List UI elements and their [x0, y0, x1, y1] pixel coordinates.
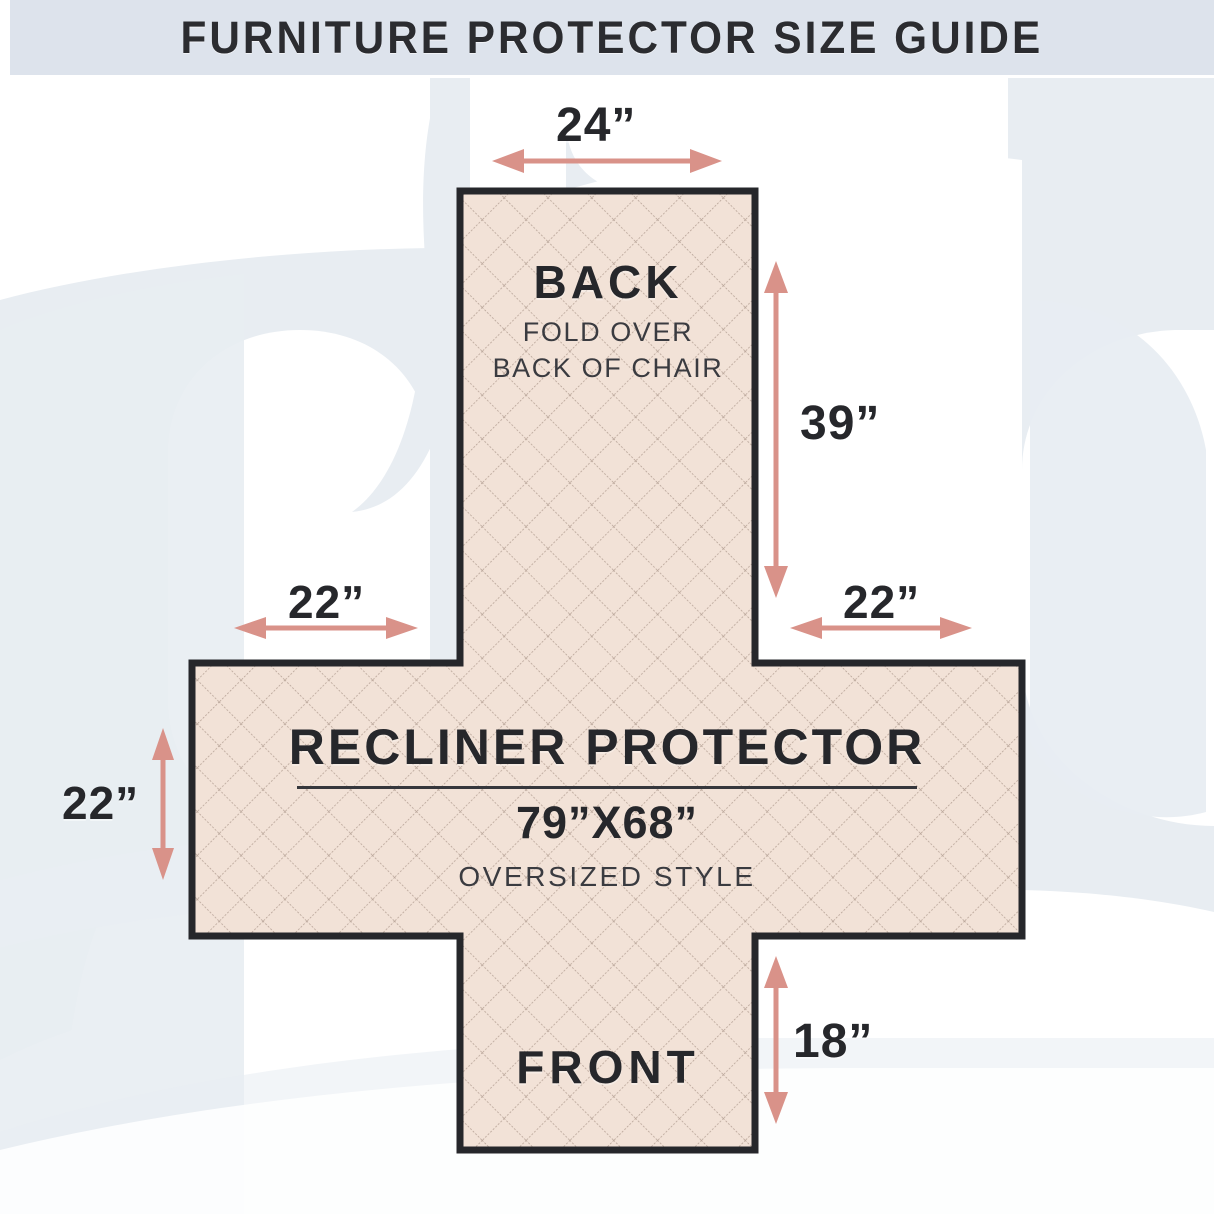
dimension-label-top-width: 24”: [556, 98, 636, 153]
back-panel-label: BACK: [460, 255, 756, 309]
back-panel-instruction: FOLD OVER BACK OF CHAIR: [450, 315, 766, 387]
product-dimensions: 79”X68”: [192, 797, 1022, 849]
dimension-label-left-arm: 22”: [288, 575, 365, 629]
size-guide-canvas: FURNITURE PROTECTOR SIZE GUIDE BACK FOLD…: [0, 0, 1214, 1214]
arrow-arm-height: [152, 728, 174, 880]
arrow-back-height: [764, 261, 788, 598]
divider-rule: [297, 786, 917, 789]
dimension-arrows: [0, 0, 1214, 1214]
dimension-label-back-height: 39”: [800, 396, 880, 451]
back-panel-instruction-line-2: BACK OF CHAIR: [450, 351, 766, 387]
dimension-label-right-arm: 22”: [843, 575, 920, 629]
product-name: RECLINER PROTECTOR: [192, 718, 1022, 776]
center-panel-info: RECLINER PROTECTOR 79”X68” OVERSIZED STY…: [192, 718, 1022, 893]
dimension-label-front-height: 18”: [793, 1014, 873, 1069]
front-panel-label: FRONT: [460, 1040, 756, 1094]
dimension-label-arm-height: 22”: [62, 776, 139, 830]
product-style: OVERSIZED STYLE: [192, 861, 1022, 893]
back-panel-instruction-line-1: FOLD OVER: [450, 315, 766, 351]
arrow-front-height: [764, 956, 788, 1124]
